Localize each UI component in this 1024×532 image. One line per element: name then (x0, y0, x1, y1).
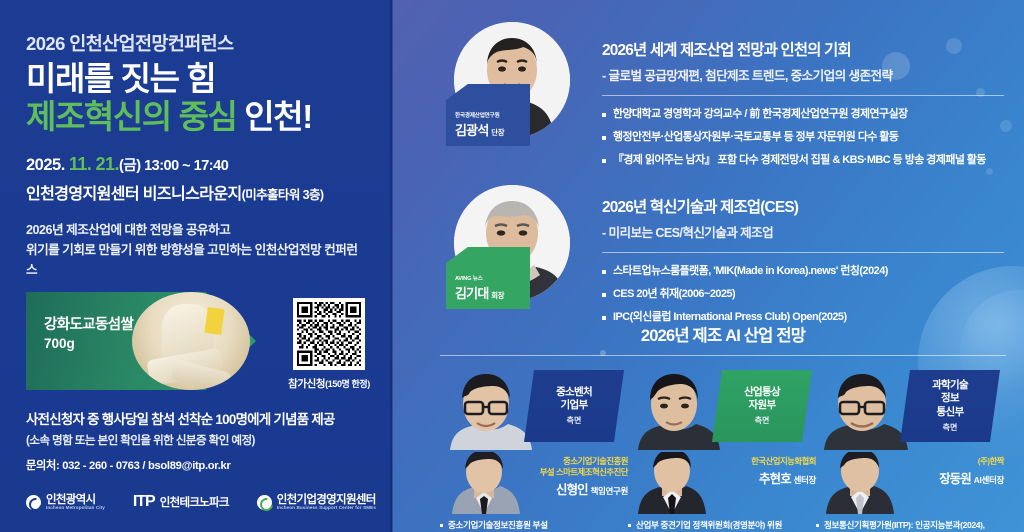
dept-name-2: 산업통상자원부 (744, 386, 780, 412)
conference-poster: 2026 인천산업전망컨퍼런스 미래를 짓는 힘 제조혁신의 중심 인천! 20… (0, 0, 1024, 532)
rice-tag-graphic (204, 307, 224, 335)
bullet-square-icon (628, 524, 631, 527)
speaker-card-kim-gwangseok: 한국경제산업연구원 김광석 단장 (446, 22, 570, 146)
ai-section-divider (440, 355, 1006, 356)
description-line-1: 2026년 제조산업에 대한 전망을 공유하고 (26, 220, 366, 240)
speaker-card-kim-gidae: AVING 뉴스 김기대 회장 (446, 185, 570, 309)
incheon-city-mark-icon (26, 495, 41, 510)
ai-bullet-3-1: 정보통신기획평가원(IITP): 인공지능분과(2024),물리보안분과(202… (816, 519, 994, 532)
dept-name-3: 과학기술정보통신부 (932, 379, 968, 418)
event-kicker: 2026 인천산업전망컨퍼런스 (26, 30, 366, 56)
gift-weight: 700g (44, 336, 75, 351)
contact-info: 문의처: 032 - 260 - 0763 / bsol89@itp.or.kr (26, 457, 372, 473)
ai-panelist-column-1: 중소벤처기업부 측면 (440, 366, 628, 532)
venue-detail: (미추홀타워 3층) (242, 188, 324, 202)
ai-person-name-text-3: 장동원 (939, 472, 971, 486)
ai-person-label-3: (주)한짝 장동원 AI센터장 (898, 456, 1004, 487)
speaker-org: AVING 뉴스 (455, 274, 530, 282)
session-2-bullet-1: 스타트업뉴스룸플랫폼, 'MIK(Made in Korea).news' 런칭… (602, 264, 1004, 280)
ai-person-portrait-1 (448, 452, 520, 514)
session-2-bullet-2: CES 20년 취재(2006~2025) (602, 287, 1004, 303)
bullet-square-icon (440, 524, 443, 527)
event-venue: 인천경영지원센터 비즈니스라운지(미추홀타워 3층) (26, 180, 366, 204)
ai-person-3: (주)한짝 장동원 AI센터장 (816, 452, 1004, 514)
ai-panelist-column-3: 과학기술정보통신부 측면 (816, 366, 1004, 532)
logo-incheon-city-en: Incheon Metropolitan City (46, 506, 105, 511)
ai-person-label-2: 한국산업지능화협회 추현호 센터장 (710, 456, 816, 487)
venue-name: 인천경영지원센터 비즈니스라운지 (26, 186, 242, 203)
session-2-bullets: 스타트업뉴스룸플랫폼, 'MIK(Made in Korea).news' 런칭… (602, 264, 1004, 325)
ai-bullets-1: 중소기업기술정보진흥원 부설스마트제조혁신추진단 책임연구원(2011~2025… (440, 519, 628, 532)
dept-name-1: 중소벤처기업부 (556, 386, 592, 412)
qr-code-icon[interactable] (293, 298, 365, 370)
speaker-name: 김기대 회장 (455, 283, 530, 302)
logo-bsc-kr: 인천기업경영지원센터 (277, 494, 376, 506)
bullet-text: 중소기업기술정보진흥원 부설스마트제조혁신추진단 책임연구원(2011~2025… (448, 519, 607, 532)
ai-section-title: 2026년 제조 AI 산업 전망 (440, 322, 1006, 346)
ai-person-role-text-3: AI센터장 (974, 475, 1004, 485)
ai-person-role-text-1: 책임연구원 (590, 486, 628, 496)
ai-panelist-columns: 중소벤처기업부 측면 (440, 366, 1006, 532)
qr-caption: 참가신청(150명 한정) (283, 376, 375, 391)
speaker-role-text: 단장 (491, 128, 504, 137)
bullet-square-icon (602, 159, 606, 163)
session-1-bullet-2: 행정안전부·산업통상자원부·국토교통부 등 정부 자문위원 다수 활동 (602, 130, 1004, 146)
speaker-org: 한국경제산업연구원 (455, 111, 530, 119)
speaker-name-text: 김광석 (455, 123, 488, 138)
portrait-illustration (628, 366, 720, 450)
bullet-text: CES 20년 취재(2006~2025) (613, 287, 735, 303)
ai-bullet-1-1: 중소기업기술정보진흥원 부설스마트제조혁신추진단 책임연구원(2011~2025… (440, 519, 618, 532)
bullet-square-icon (816, 524, 819, 527)
bullet-square-icon (602, 270, 606, 274)
portrait-illustration (636, 452, 708, 514)
ai-person-1: 중소기업기술진흥원부설 스마트제조혁신추진단 신형인 책임연구원 (440, 452, 628, 514)
bullet-text: 행정안전부·산업통상자원부·국토교통부 등 정부 자문위원 다수 활동 (613, 130, 898, 146)
ai-panelist-photo-1 (440, 366, 532, 450)
footer-logos: 인천광역시 Incheon Metropolitan City ITP 인천테크… (26, 487, 376, 517)
bullet-text: 정보통신기획평가원(IITP): 인공지능분과(2024),물리보안분과(202… (824, 519, 985, 532)
dept-flag-1: 중소벤처기업부 측면 (524, 370, 624, 442)
headline-green-part: 제조혁신의 중심 (26, 98, 237, 135)
session-1: 2026년 세계 제조산업 전망과 인천의 기회 - 글로벌 공급망재편, 첨단… (602, 38, 1004, 175)
bullet-square-icon (602, 293, 606, 297)
session-1-bullet-1: 한양대학교 경영학과 강의교수 / 前 한국경제산업연구원 경제연구실장 (602, 107, 1004, 123)
gift-block: 강화도교동섬쌀 700g (26, 292, 256, 390)
left-info-panel: 2026 인천산업전망컨퍼런스 미래를 짓는 힘 제조혁신의 중심 인천! 20… (0, 0, 392, 532)
bullet-square-icon (602, 136, 606, 140)
ai-person-name-text-1: 신형인 (556, 483, 588, 497)
ai-person-name-text-2: 추현호 (759, 472, 791, 486)
bullet-text: 스타트업뉴스룸플랫폼, 'MIK(Made in Korea).news' 런칭… (613, 264, 888, 280)
ai-dept-head-2: 산업통상자원부 측면 (628, 366, 816, 450)
bullet-text: 산업부 중견기업 정책위원회(경영분야) 위원 (636, 519, 782, 531)
ai-person-org-1: 중소기업기술진흥원부설 스마트제조혁신추진단 (522, 456, 628, 478)
session-2-title: 2026년 혁신기술과 제조업(CES) (602, 195, 1004, 217)
bullet-square-icon (602, 113, 606, 117)
ai-person-org-3: (주)한짝 (898, 456, 1004, 467)
registration-qr-block[interactable]: 참가신청(150명 한정) (283, 298, 375, 391)
session-1-title: 2026년 세계 제조산업 전망과 인천의 기회 (602, 38, 1004, 60)
portrait-illustration (448, 452, 520, 514)
ai-bullet-2-1: 산업부 중견기업 정책위원회(경영분야) 위원 (628, 519, 806, 531)
session-1-bullet-3: 『경제 읽어주는 남자』 포함 다수 경제전망서 집필 & KBS·MBC 등 … (602, 153, 1004, 169)
logo-itp: ITP 인천테크노파크 (133, 493, 229, 511)
date-year: 2025. (26, 156, 65, 174)
notice-sub-text: (소속 명함 또는 본인 확인을 위한 신분증 확인 예정) (26, 432, 372, 448)
logo-incheon-city: 인천광역시 Incheon Metropolitan City (26, 494, 105, 511)
speaker-name: 김광석 단장 (455, 120, 530, 139)
itp-wordmark-icon: ITP (133, 493, 155, 511)
logo-business-support-center: 인천기업경영지원센터 Incheon Business Support Cent… (257, 494, 376, 511)
portrait-illustration (440, 366, 532, 450)
ai-person-name-1: 신형인 책임연구원 (522, 480, 628, 498)
headline-line-2: 제조혁신의 중심 인천! (26, 98, 366, 136)
speaker-ribbon-kim-gwangseok: 한국경제산업연구원 김광석 단장 (446, 84, 530, 146)
headline-white-part: 인천! (244, 98, 312, 135)
event-description: 2026년 제조산업에 대한 전망을 공유하고 위기를 기회로 만들기 위한 방… (26, 220, 366, 281)
session-1-bullets: 한양대학교 경영학과 강의교수 / 前 한국경제산업연구원 경제연구실장 행정안… (602, 107, 1004, 168)
ai-person-name-3: 장동원 AI센터장 (898, 469, 1004, 487)
ai-person-2: 한국산업지능화협회 추현호 센터장 (628, 452, 816, 514)
business-support-mark-icon (257, 495, 272, 510)
ai-panelist-photo-2 (628, 366, 720, 450)
logo-incheon-city-kr: 인천광역시 (46, 494, 105, 506)
dept-flag-2: 산업통상자원부 측면 (712, 370, 812, 442)
notice-main-text: 사전신청자 중 행사당일 참석 선착순 100명에게 기념품 제공 (26, 408, 372, 428)
bullet-square-icon (602, 316, 606, 320)
speaker-ribbon-kim-gidae: AVING 뉴스 김기대 회장 (446, 247, 530, 309)
bullet-text: 한양대학교 경영학과 강의교수 / 前 한국경제산업연구원 경제연구실장 (613, 107, 908, 123)
notice-block: 사전신청자 중 행사당일 참석 선착순 100명에게 기념품 제공 (소속 명함… (26, 408, 372, 473)
ai-dept-head-3: 과학기술정보통신부 측면 (816, 366, 1004, 450)
dept-side-1: 측면 (567, 415, 582, 426)
ai-person-name-2: 추현호 센터장 (710, 469, 816, 487)
speaker-name-text: 김기대 (455, 286, 488, 301)
event-date: 2025. 11. 21.(금) 13:00 ~ 17:40 (26, 154, 366, 175)
ai-person-label-1: 중소기업기술진흥원부설 스마트제조혁신추진단 신형인 책임연구원 (522, 456, 628, 498)
portrait-illustration (816, 366, 908, 450)
ai-person-portrait-2 (636, 452, 708, 514)
ai-person-org-2: 한국산업지능화협회 (710, 456, 816, 467)
gift-photo (132, 292, 250, 390)
ai-person-role-text-2: 센터장 (793, 475, 816, 485)
date-month: 11. (69, 154, 92, 174)
dept-flag-3: 과학기술정보통신부 측면 (900, 370, 1000, 442)
headline-line-1: 미래를 짓는 힘 (26, 60, 366, 98)
session-1-divider (602, 95, 1004, 96)
logo-bsc-en: Incheon Business Support Center for SMEs (277, 506, 376, 511)
dept-side-2: 측면 (755, 415, 770, 426)
session-2: 2026년 혁신기술과 제조업(CES) - 미리보는 CES/혁신기술과 제조… (602, 195, 1004, 332)
session-1-subtitle: - 글로벌 공급망재편, 첨단제조 트렌드, 중소기업의 생존전략 (602, 65, 1004, 84)
description-line-2: 위기를 기회로 만들기 위한 방향성을 고민하는 인천산업전망 컨퍼런스 (26, 240, 366, 281)
bullet-text: 『경제 읽어주는 남자』 포함 다수 경제전망서 집필 & KBS·MBC 등 … (613, 153, 986, 169)
ai-panelist-column-2: 산업통상자원부 측면 (628, 366, 816, 532)
qr-caption-main: 참가신청 (288, 378, 325, 390)
portrait-illustration (824, 452, 896, 514)
session-2-subtitle: - 미리보는 CES/혁신기술과 제조업 (602, 222, 1004, 241)
session-2-divider (602, 252, 1004, 253)
ai-panel-section: 2026년 제조 AI 산업 전망 (440, 322, 1006, 532)
gift-name: 강화도교동섬쌀 (44, 313, 133, 334)
ai-person-portrait-3 (824, 452, 896, 514)
ai-bullets-2: 산업부 중견기업 정책위원회(경영분야) 위원 서울특별시 강남구 스마트도시위… (628, 519, 816, 532)
logo-itp-kr: 인천테크노파크 (160, 494, 229, 510)
ai-panelist-photo-3 (816, 366, 908, 450)
ai-bullets-3: 정보통신기획평가원(IITP): 인공지능분과(2024),물리보안분과(202… (816, 519, 1004, 532)
date-day: 21. (96, 154, 120, 174)
speaker-role-text: 회장 (491, 291, 504, 300)
dept-side-3: 측면 (943, 422, 958, 433)
ai-dept-head-1: 중소벤처기업부 측면 (440, 366, 628, 450)
qr-code-svg (297, 302, 361, 366)
date-time: (금) 13:00 ~ 17:40 (119, 158, 228, 174)
qr-caption-limit: (150명 한정) (325, 379, 370, 389)
